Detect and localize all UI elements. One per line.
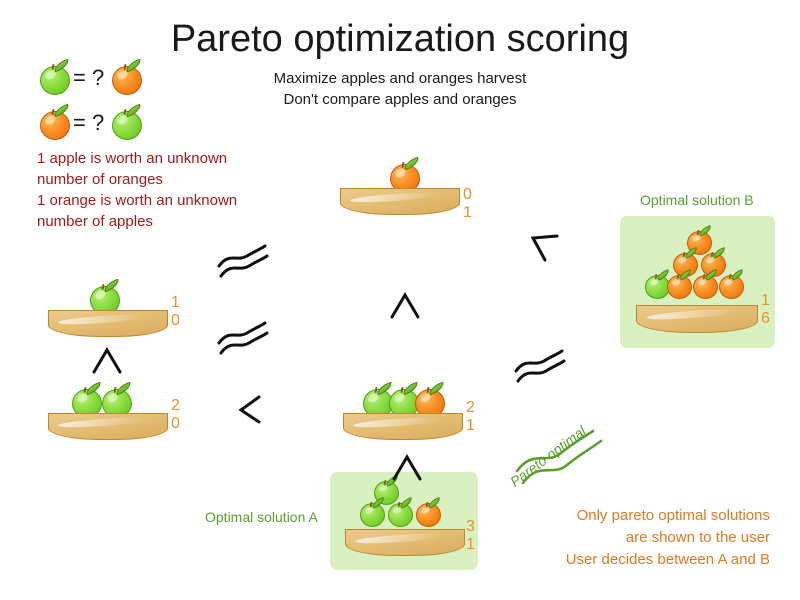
operator-greater-than-vertical <box>388 290 422 320</box>
subtitle-line-2: Don't compare apples and oranges <box>180 89 620 110</box>
basket-0-apples-1-orange <box>340 160 460 215</box>
score-apples: 1 <box>761 292 770 310</box>
score-apples: 1 <box>171 294 180 312</box>
orange-icon <box>718 272 746 299</box>
orange-icon <box>415 500 443 527</box>
assumption-line-3: 1 orange is worth an unknown <box>37 190 287 211</box>
assumption-line-1: 1 apple is worth an unknown <box>37 148 287 169</box>
score-oranges: 1 <box>463 204 472 222</box>
basket-1-apple-6-oranges <box>636 228 758 333</box>
score-0-1: 0 1 <box>463 186 472 222</box>
score-apples: 0 <box>463 186 472 204</box>
operator-less-than <box>234 393 266 425</box>
score-1-6: 1 6 <box>761 292 770 328</box>
basket-1-apple-0-oranges <box>48 282 168 337</box>
score-oranges: 6 <box>761 310 770 328</box>
footnote-text: Only pareto optimal solutions are shown … <box>440 505 770 571</box>
operator-greater-than-vertical <box>90 345 124 375</box>
score-apples: 2 <box>171 397 180 415</box>
footnote-line-3: User decides between A and B <box>440 549 770 571</box>
equation-orange-equals-apple: = ? <box>38 107 158 143</box>
bowl-shape <box>636 305 758 333</box>
operator-approximately-equal <box>215 315 279 357</box>
apple-icon <box>38 62 72 95</box>
optimal-solution-b-label: Optimal solution B <box>640 192 754 208</box>
page-title: Pareto optimization scoring <box>0 18 800 61</box>
bowl-shape <box>343 413 463 440</box>
score-apples: 2 <box>466 399 475 417</box>
operator-less-than-rotated <box>528 232 562 266</box>
operator-greater-than-vertical <box>390 452 424 482</box>
score-1-0: 1 0 <box>171 294 180 330</box>
apple-icon <box>359 500 387 527</box>
score-oranges: 0 <box>171 312 180 330</box>
footnote-line-1: Only pareto optimal solutions <box>440 505 770 527</box>
assumption-line-4: number of apples <box>37 211 287 232</box>
score-oranges: 1 <box>466 417 475 435</box>
orange-icon <box>692 272 720 299</box>
orange-icon <box>38 107 72 140</box>
operator-approximately-equal <box>215 240 279 280</box>
score-2-0: 2 0 <box>171 397 180 433</box>
operator-approximately-equal <box>512 345 576 387</box>
equation-apple-equals-orange: = ? <box>38 62 158 98</box>
basket-2-apples-0-oranges <box>48 385 168 440</box>
score-2-1: 2 1 <box>466 399 475 435</box>
assumption-text: 1 apple is worth an unknown number of or… <box>37 148 287 232</box>
equation-1-operator: = ? <box>73 65 104 91</box>
footnote-line-2: are shown to the user <box>440 527 770 549</box>
orange-icon <box>666 272 694 299</box>
bowl-shape <box>48 310 168 337</box>
optimal-solution-a-label: Optimal solution A <box>205 509 318 525</box>
assumption-line-2: number of oranges <box>37 169 287 190</box>
subtitle-line-1: Maximize apples and oranges harvest <box>180 68 620 89</box>
orange-icon <box>110 62 144 95</box>
diagram-canvas: Pareto optimization scoring Maximize app… <box>0 0 800 600</box>
apple-icon <box>387 500 415 527</box>
bowl-shape <box>48 413 168 440</box>
score-oranges: 0 <box>171 415 180 433</box>
equation-2-operator: = ? <box>73 110 104 136</box>
pareto-optimal-annotation: Pareto optimal <box>505 425 625 515</box>
apple-icon <box>110 107 144 140</box>
page-subtitle: Maximize apples and oranges harvest Don'… <box>180 68 620 110</box>
basket-2-apples-1-orange <box>343 385 463 440</box>
bowl-shape <box>340 188 460 215</box>
